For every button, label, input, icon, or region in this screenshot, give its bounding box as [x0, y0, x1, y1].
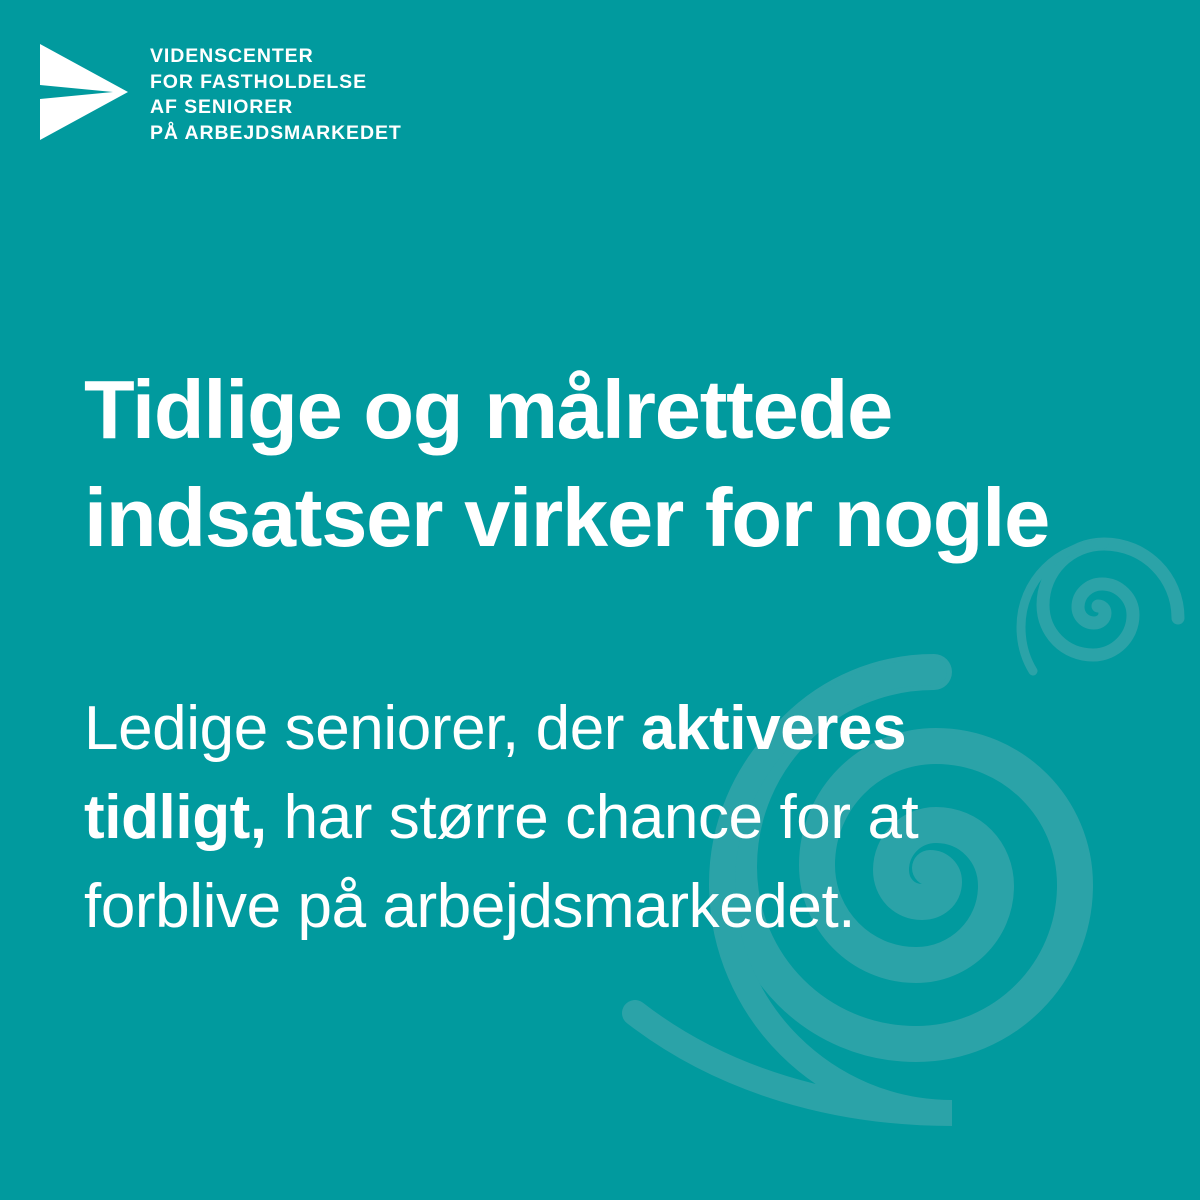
logo[interactable]: VIDENSCENTER FOR FASTHOLDELSE AF SENIORE…	[40, 38, 402, 146]
body-emphasis: aktiveres	[641, 694, 906, 763]
chevron-right-icon	[40, 38, 128, 146]
logo-line-3: AF SENIORER	[150, 95, 402, 121]
body-copy: Ledige seniorer, der aktiveres tidligt, …	[84, 684, 1044, 951]
headline: Tidlige og målrettede indsatser virker f…	[84, 356, 1144, 572]
logo-line-4: PÅ ARBEJDSMARKEDET	[150, 121, 402, 147]
body-emphasis: tidligt,	[84, 783, 267, 852]
logo-line-2: FOR FASTHOLDELSE	[150, 70, 402, 96]
body-line-2: tidligt, har større chance for at	[84, 773, 1044, 862]
social-card: VIDENSCENTER FOR FASTHOLDELSE AF SENIORE…	[0, 0, 1200, 1200]
logo-text: VIDENSCENTER FOR FASTHOLDELSE AF SENIORE…	[150, 38, 402, 146]
body-text: Ledige seniorer, der	[84, 694, 641, 763]
body-text: forblive på arbejdsmarkedet.	[84, 872, 855, 941]
body-line-1: Ledige seniorer, der aktiveres	[84, 684, 1044, 773]
body-text: har større chance for at	[267, 783, 919, 852]
headline-line-1: Tidlige og målrettede	[84, 356, 1144, 464]
headline-line-2: indsatser virker for nogle	[84, 464, 1144, 572]
background-decoration	[0, 0, 1200, 1200]
logo-line-1: VIDENSCENTER	[150, 44, 402, 70]
body-line-3: forblive på arbejdsmarkedet.	[84, 862, 1044, 951]
